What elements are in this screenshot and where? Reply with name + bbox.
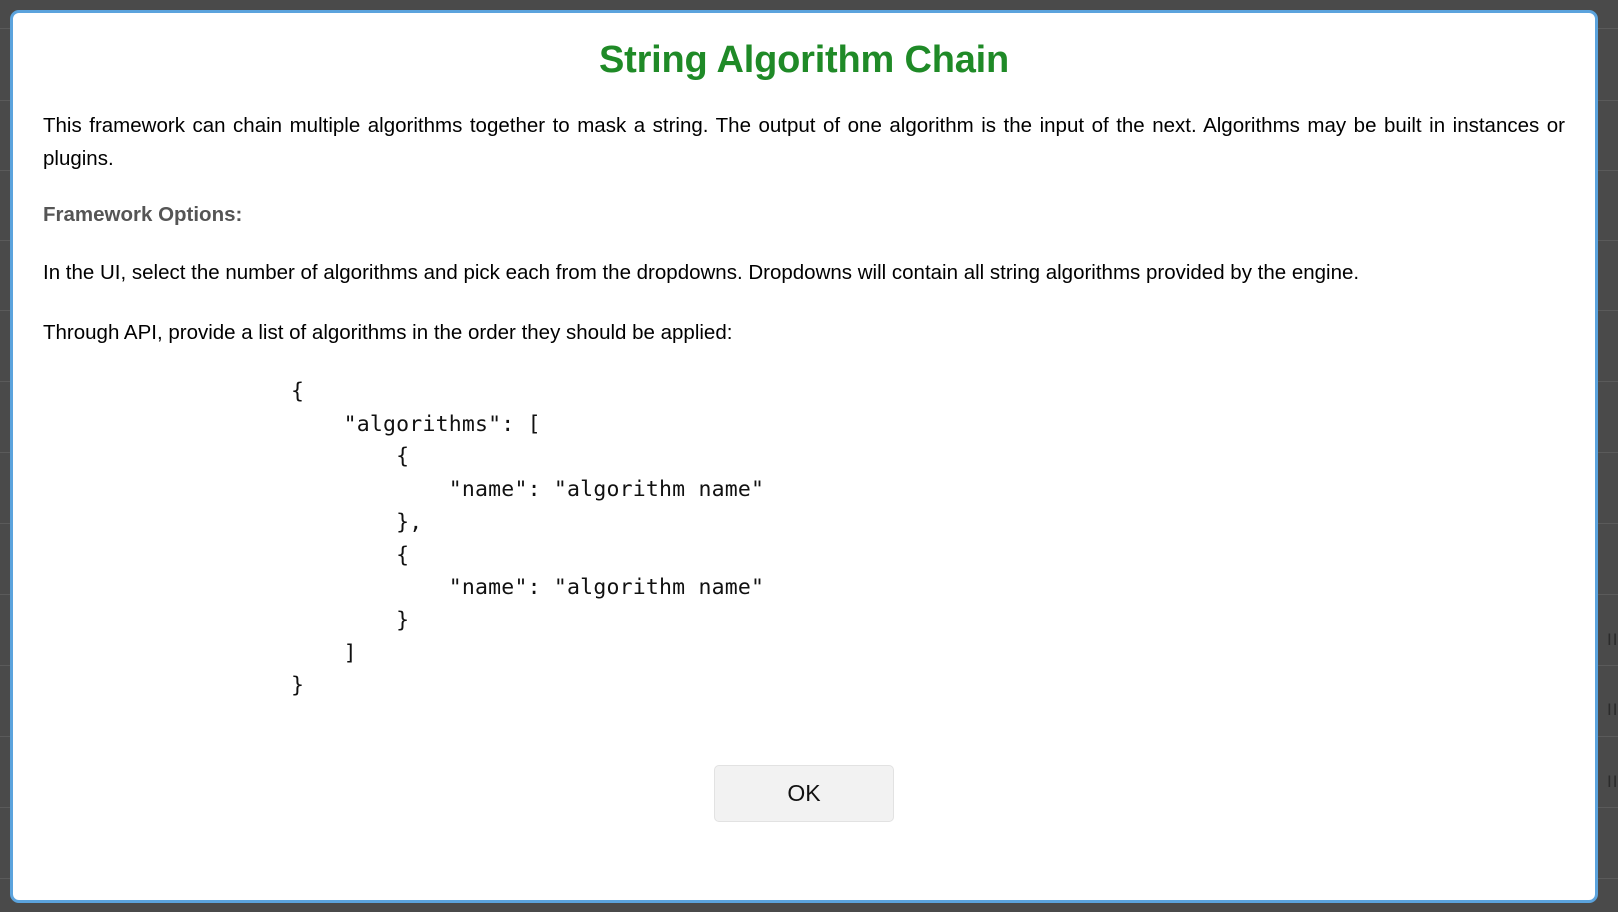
ok-button[interactable]: OK — [714, 765, 894, 822]
intro-paragraph: This framework can chain multiple algori… — [43, 109, 1565, 175]
dialog-button-row: OK — [13, 765, 1595, 822]
api-instructions-paragraph: Through API, provide a list of algorithm… — [43, 316, 1565, 349]
ui-instructions-paragraph: In the UI, select the number of algorith… — [43, 256, 1565, 289]
dialog-content: String Algorithm Chain This framework ca… — [13, 13, 1595, 900]
backdrop-text-fragment: II — [1607, 700, 1618, 720]
dialog-title: String Algorithm Chain — [43, 39, 1565, 83]
string-algorithm-chain-dialog: String Algorithm Chain This framework ca… — [10, 10, 1598, 903]
json-code-sample: { "algorithms": [ { "name": "algorithm n… — [291, 376, 1565, 703]
backdrop-text-fragment: II — [1607, 630, 1618, 650]
backdrop-text-fragment: II — [1607, 772, 1618, 792]
framework-options-heading: Framework Options: — [43, 202, 1565, 229]
